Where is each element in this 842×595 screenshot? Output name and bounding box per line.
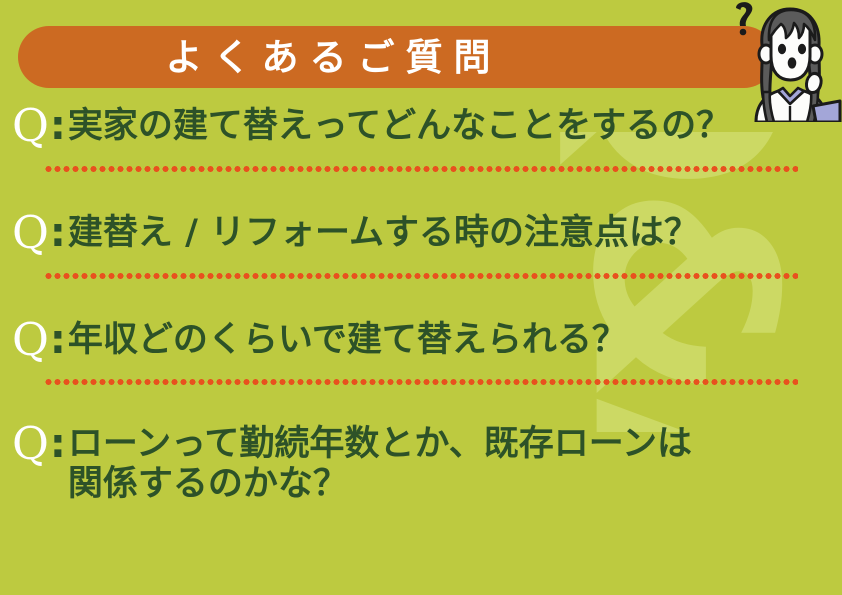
faq-question-line: Q : 建替え / リフォームする時の注意点は？ bbox=[0, 212, 842, 255]
faq-item-q2[interactable]: Q : 建替え / リフォームする時の注意点は？ bbox=[0, 212, 842, 279]
dotted-divider-3 bbox=[44, 379, 798, 385]
dotted-divider-1 bbox=[44, 166, 798, 172]
q-colon: : bbox=[50, 105, 66, 147]
q-colon: : bbox=[50, 212, 66, 254]
dotted-divider-2 bbox=[44, 273, 798, 279]
faq-question-text-q2: 建替え / リフォームする時の注意点は？ bbox=[68, 212, 699, 254]
faq-question-text-q3: 年収どのくらいで建て替えられる？ bbox=[68, 319, 627, 361]
faq-question-line: Q : ローンって勤続年数とか、既存ローンは 関係するのかな？ bbox=[0, 423, 842, 505]
faq-infographic: Q&A よくあるご質問 bbox=[0, 0, 842, 595]
faq-question-text-q1: 実家の建て替えってどんなことをするの？ bbox=[68, 105, 731, 147]
faq-item-q3[interactable]: Q : 年収どのくらいで建て替えられる？ bbox=[0, 319, 842, 386]
faq-question-text-q4-line1: ローンって勤続年数とか、既存ローンは bbox=[68, 424, 692, 464]
page-title: よくあるご質問 bbox=[18, 26, 638, 88]
q-letter-icon: Q bbox=[12, 423, 49, 466]
question-mark-icon bbox=[736, 2, 752, 35]
q-letter-icon: Q bbox=[12, 105, 49, 148]
faq-list: Q : 実家の建て替えってどんなことをするの？ Q : 建替え / リフォームす… bbox=[0, 105, 842, 505]
q-colon: : bbox=[50, 319, 66, 361]
woman-thinking-illustration bbox=[716, 0, 842, 122]
faq-item-q4[interactable]: Q : ローンって勤続年数とか、既存ローンは 関係するのかな？ bbox=[0, 423, 842, 505]
q-letter-icon: Q bbox=[12, 319, 49, 362]
faq-question-line: Q : 年収どのくらいで建て替えられる？ bbox=[0, 319, 842, 362]
faq-question-text-q4: ローンって勤続年数とか、既存ローンは 関係するのかな？ bbox=[68, 423, 692, 505]
title-banner: よくあるご質問 bbox=[18, 26, 775, 88]
q-colon: : bbox=[50, 423, 66, 465]
faq-question-text-q4-line2: 関係するのかな？ bbox=[68, 465, 692, 505]
q-letter-icon: Q bbox=[12, 212, 49, 255]
